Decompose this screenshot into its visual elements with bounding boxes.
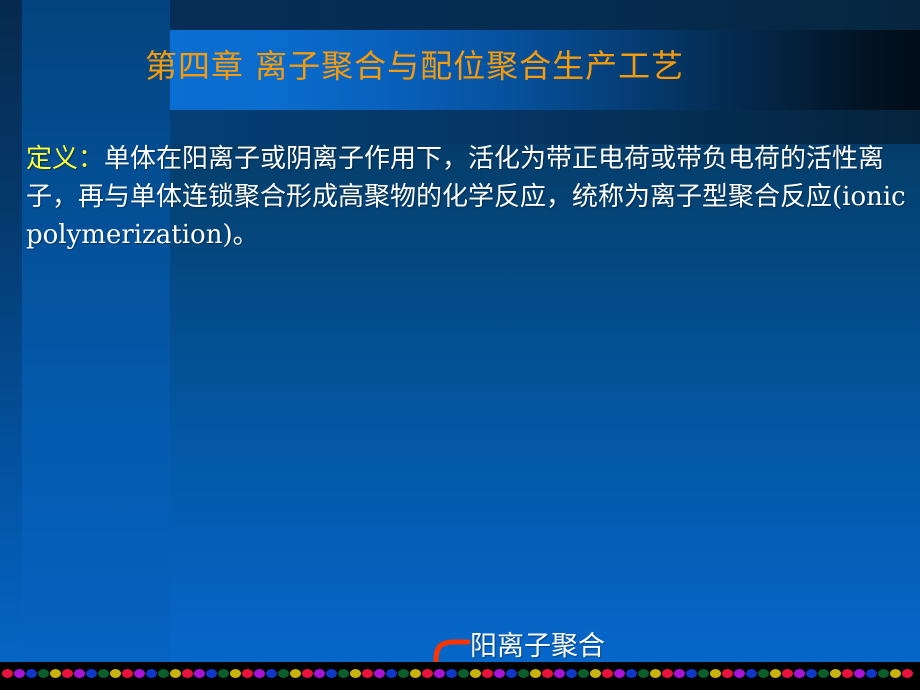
decorative-dot	[542, 669, 553, 678]
decorative-dot	[290, 669, 301, 678]
decorative-dot	[242, 669, 253, 678]
decorative-dot	[518, 669, 529, 678]
decorative-dot	[122, 669, 133, 678]
decorative-dot	[158, 669, 169, 678]
decorative-dot	[26, 669, 37, 678]
decorative-dot	[278, 669, 289, 678]
decorative-dot	[458, 669, 469, 678]
decorative-dot	[482, 669, 493, 678]
decorative-dot	[890, 669, 901, 678]
decorative-dot	[758, 669, 769, 678]
decorative-dot	[686, 669, 697, 678]
decorative-dot	[722, 669, 733, 678]
decorative-dot	[170, 669, 181, 678]
decorative-dot	[830, 669, 841, 678]
decorative-dot	[230, 669, 241, 678]
decorative-dot	[602, 669, 613, 678]
definition-paragraph: 定义：单体在阳离子或阴离子作用下，活化为带正电荷或带负电荷的活性离子，再与单体连…	[26, 140, 906, 254]
decorative-dot	[506, 669, 517, 678]
decorative-dot	[566, 669, 577, 678]
decorative-dot	[710, 669, 721, 678]
slide-title: 第四章 离子聚合与配位聚合生产工艺	[145, 50, 684, 82]
decorative-dot	[398, 669, 409, 678]
decorative-dot	[206, 669, 217, 678]
decorative-dot	[494, 669, 505, 678]
diagram-leaf-1: 阳离子聚合	[470, 633, 605, 660]
decorative-dot	[98, 669, 109, 678]
bottom-decorative-dot-strip	[0, 662, 920, 690]
decorative-dot	[422, 669, 433, 678]
decorative-dot	[578, 669, 589, 678]
decorative-dot	[674, 669, 685, 678]
decorative-dot	[746, 669, 757, 678]
decorative-dot	[14, 669, 25, 678]
decorative-dot	[326, 669, 337, 678]
decorative-dot	[218, 669, 229, 678]
decorative-dot	[554, 669, 565, 678]
decorative-dot	[110, 669, 121, 678]
decorative-dot	[446, 669, 457, 678]
decorative-dot	[302, 669, 313, 678]
decorative-dot	[878, 669, 889, 678]
decorative-top-band	[170, 0, 920, 30]
decorative-dot	[434, 669, 445, 678]
decorative-dot	[2, 669, 13, 678]
decorative-dot	[62, 669, 73, 678]
decorative-dot	[86, 669, 97, 678]
slide-canvas: 第四章 离子聚合与配位聚合生产工艺 定义：单体在阳离子或阴离子作用下，活化为带正…	[0, 0, 920, 690]
decorative-dot	[350, 669, 361, 678]
decorative-dot	[470, 669, 481, 678]
decorative-dot	[386, 669, 397, 678]
decorative-dot	[626, 669, 637, 678]
decorative-dot	[134, 669, 145, 678]
decorative-dot	[38, 669, 49, 678]
decorative-dot	[74, 669, 85, 678]
decorative-dot	[662, 669, 673, 678]
decorative-dot	[530, 669, 541, 678]
decorative-dot	[374, 669, 385, 678]
decorative-dot	[734, 669, 745, 678]
decorative-dot	[794, 669, 805, 678]
decorative-dot	[818, 669, 829, 678]
decorative-dot	[698, 669, 709, 678]
definition-keyword: 定义：	[26, 144, 104, 174]
decorative-dot	[362, 669, 373, 678]
decorative-dot	[638, 669, 649, 678]
decorative-dot	[806, 669, 817, 678]
decorative-dot	[266, 669, 277, 678]
decorative-dot	[866, 669, 877, 678]
decorative-below-title-band	[170, 110, 920, 144]
decorative-dot	[650, 669, 661, 678]
decorative-dot	[590, 669, 601, 678]
decorative-dot	[338, 669, 349, 678]
classification-diagram: 离子型聚合反应 阳离子聚合 阴离子聚合 配位离子型聚合	[0, 300, 920, 580]
decorative-dot	[614, 669, 625, 678]
decorative-dot	[410, 669, 421, 678]
decorative-dot	[146, 669, 157, 678]
decorative-dot	[902, 669, 913, 678]
decorative-dot	[854, 669, 865, 678]
decorative-dot	[770, 669, 781, 678]
decorative-dot	[194, 669, 205, 678]
definition-body: 单体在阳离子或阴离子作用下，活化为带正电荷或带负电荷的活性离子，再与单体连锁聚合…	[26, 144, 906, 250]
decorative-dot	[842, 669, 853, 678]
decorative-dot	[182, 669, 193, 678]
decorative-dot	[50, 669, 61, 678]
decorative-dot	[254, 669, 265, 678]
decorative-dot	[314, 669, 325, 678]
decorative-dot	[782, 669, 793, 678]
